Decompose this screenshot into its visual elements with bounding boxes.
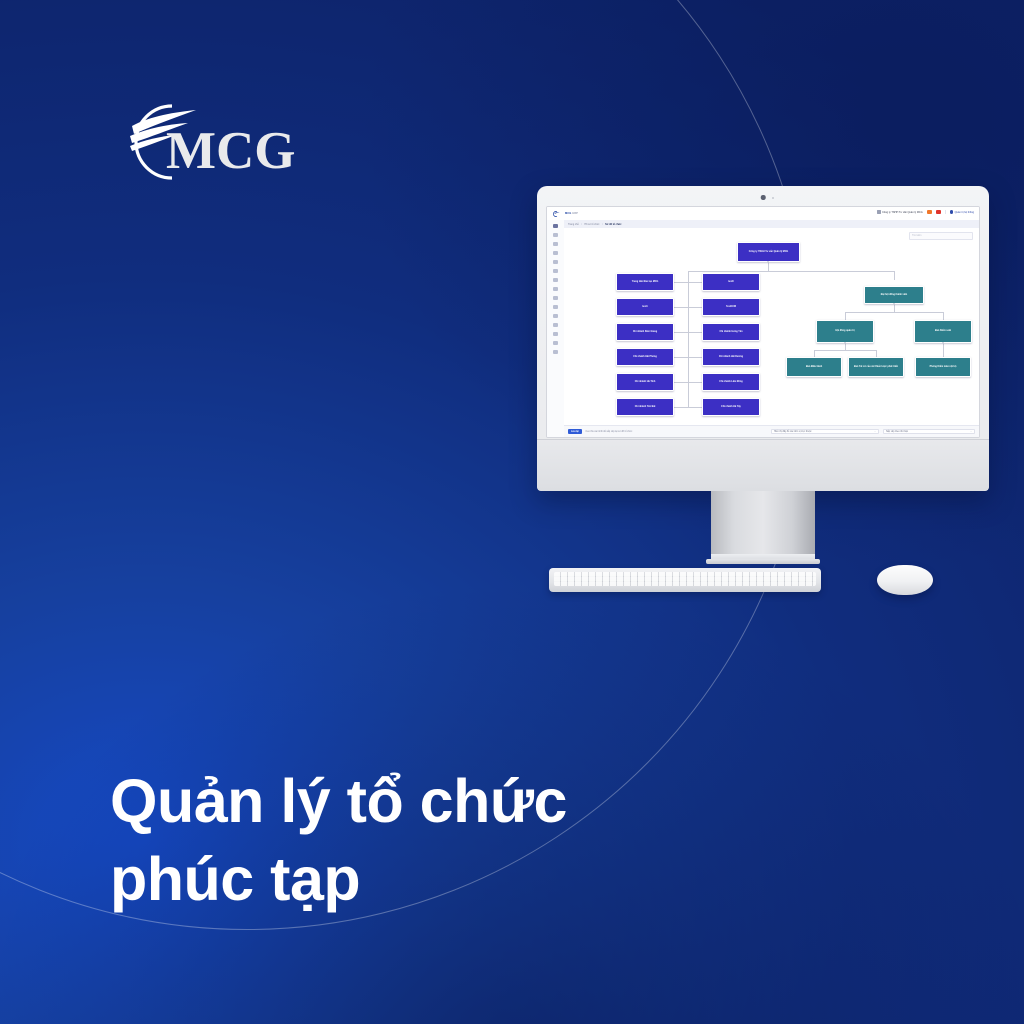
sidebar-item-gear-icon[interactable] [553, 350, 557, 354]
mcg-logo: MCG [110, 96, 300, 188]
org-node-left-4[interactable]: Chi nhánh Hà Tĩnh [616, 373, 674, 391]
footer-note: Kéo thả các khối để sắp xếp lại sơ đồ tổ… [586, 431, 633, 433]
connector-gov-top-down [894, 304, 895, 312]
connector-bks-down [943, 343, 944, 357]
notification-icon[interactable] [927, 210, 932, 214]
breadcrumb-item-1[interactable]: Hồ sơ tổ chức [584, 223, 599, 226]
connector-r5 [688, 407, 702, 408]
monitor-screen: MCG ERP Công ty TNHH Tư vấn Quản lý MCG [546, 206, 980, 438]
org-chart-canvas[interactable]: Tìm kiếm [564, 228, 979, 426]
save-button[interactable]: Lưu lại [568, 429, 582, 434]
app-logo[interactable]: MCG ERP [553, 211, 578, 217]
org-node-gov-top[interactable]: Đại hội đồng thành viên [864, 286, 924, 304]
app-sidebar [547, 220, 565, 437]
connector-l3 [674, 357, 688, 358]
page-title: Quản lý tổ chức phúc tạp [110, 762, 730, 918]
app-logo-text: MCG [565, 212, 571, 215]
org-selector[interactable]: Công ty TNHH Tư vấn Quản lý MCG [877, 210, 922, 213]
connector-r3 [688, 357, 702, 358]
org-node-right-3[interactable]: Chi nhánh Hải Dương [702, 348, 760, 366]
monitor-stand-foot [711, 554, 815, 563]
org-node-right-0[interactable]: test0 [702, 273, 760, 291]
app-logo-icon [553, 211, 564, 217]
org-node-gov-leaf-1[interactable]: Ban Điều hành [786, 357, 842, 377]
connector-gov-down [894, 271, 895, 280]
org-node-gov-leaf-2[interactable]: Ban Tái cơ cấu và Chiến lược phát triển [848, 357, 904, 377]
org-node-right-5[interactable]: Chi nhánh Hà Tây [702, 398, 760, 416]
connector-gov-horizontal [845, 312, 943, 313]
mouse [877, 565, 933, 595]
connector-r0 [688, 282, 702, 283]
chevron-down-icon: ⌄ [874, 430, 876, 433]
sidebar-item-briefcase-icon[interactable] [553, 287, 557, 291]
sidebar-item-tag-icon[interactable] [553, 341, 557, 345]
display-mode-select[interactable]: Hiển thị đầy đủ các đơn vị trực thuộc ⌄ [771, 429, 879, 435]
keyboard [549, 568, 821, 592]
org-node-left-2[interactable]: Chi nhánh Kiên Giang [616, 323, 674, 341]
connector-l2 [674, 332, 688, 333]
alert-icon[interactable] [936, 210, 941, 214]
keyboard-keys [554, 572, 816, 586]
svg-text:MCG: MCG [166, 122, 296, 180]
monitor-bezel [537, 186, 989, 206]
monitor-stand-neck [711, 491, 815, 557]
mcg-swoosh-logo: MCG [110, 96, 300, 188]
breadcrumb-separator-0: / [581, 223, 582, 226]
camera-indicator-icon [772, 197, 774, 199]
display-mode-value: Hiển thị đầy đủ các đơn vị trực thuộc [774, 431, 812, 433]
org-node-gov-mid-left[interactable]: Hội đồng quản trị [816, 320, 874, 343]
imac-mockup: MCG ERP Công ty TNHH Tư vấn Quản lý MCG [537, 186, 989, 606]
user-avatar [950, 210, 954, 214]
monitor-body: MCG ERP Công ty TNHH Tư vấn Quản lý MCG [537, 186, 989, 491]
chin-divider [537, 439, 989, 440]
org-selector-label: Công ty TNHH Tư vấn Quản lý MCG [882, 211, 923, 214]
breadcrumb-separator-1: / [602, 223, 603, 226]
connector-left-spine [688, 271, 689, 407]
connector-l4 [674, 382, 688, 383]
connector-l0 [674, 282, 688, 283]
org-node-right-1[interactable]: TestCCM [702, 298, 760, 316]
chevron-down-icon: ⌄ [970, 430, 972, 433]
sidebar-item-calendar-icon[interactable] [553, 269, 557, 273]
breadcrumb-item-2: Sơ đồ tổ chức [605, 223, 621, 226]
connector-l1 [674, 307, 688, 308]
app-footer-toolbar: Lưu lại Kéo thả các khối để sắp xếp lại … [564, 425, 979, 437]
monitor-chin [537, 439, 989, 491]
topbar-right-group: Công ty TNHH Tư vấn Quản lý MCG Quản trị… [877, 210, 974, 214]
org-node-right-4[interactable]: Chi nhánh Lâm Đồng [702, 373, 760, 391]
connector-r2 [688, 332, 702, 333]
poster-canvas: MCG [0, 0, 1024, 1024]
connector-hdqt-horizontal [814, 350, 876, 351]
sidebar-item-settings-icon[interactable] [553, 278, 557, 282]
headline-line-1: Quản lý tổ chức [110, 767, 567, 835]
connector-r1 [688, 307, 702, 308]
connector-leaf2-down [876, 350, 877, 357]
user-menu[interactable]: Quản trị hệ thống [945, 210, 974, 214]
webcam-icon [761, 195, 766, 200]
headline-line-2: phúc tạp [110, 840, 730, 918]
sidebar-item-clock-icon[interactable] [553, 314, 557, 318]
sidebar-item-user-icon[interactable] [553, 242, 557, 246]
app-topbar: MCG ERP Công ty TNHH Tư vấn Quản lý MCG [547, 207, 979, 221]
connector-root-down [768, 262, 769, 271]
org-node-gov-mid-right[interactable]: Ban Kiểm soát [914, 320, 972, 343]
sort-mode-select[interactable]: Sắp xếp theo thứ bậc ⌄ [883, 429, 975, 435]
org-node-left-1[interactable]: test1 [616, 298, 674, 316]
connector-gov-right-down [943, 312, 944, 320]
building-icon [877, 210, 880, 213]
sidebar-item-link-icon[interactable] [553, 260, 557, 264]
sidebar-item-box-icon[interactable] [553, 323, 557, 327]
sidebar-item-document-icon[interactable] [553, 233, 557, 237]
sidebar-item-list-icon[interactable] [553, 332, 557, 336]
sidebar-item-home-icon[interactable] [553, 224, 557, 228]
sidebar-item-chart-icon[interactable] [553, 251, 557, 255]
connector-hdqt-down [845, 343, 846, 350]
connector-r4 [688, 382, 702, 383]
connector-l5 [674, 407, 688, 408]
sort-mode-value: Sắp xếp theo thứ bậc [886, 431, 908, 433]
org-node-right-2[interactable]: Chi nhánh Hưng Yên [702, 323, 760, 341]
breadcrumb-item-0[interactable]: Trang chủ [568, 223, 579, 226]
sidebar-item-grid-icon[interactable] [553, 305, 557, 309]
app-logo-suffix: ERP [572, 212, 578, 215]
connector-gov-left-down [845, 312, 846, 320]
org-node-root[interactable]: Công ty TNHH Tư vấn Quản lý MCG [737, 242, 800, 262]
org-node-left-3[interactable]: Chi nhánh Hải Phòng [616, 348, 674, 366]
sidebar-item-folder-icon[interactable] [553, 296, 557, 300]
org-node-gov-leaf-3[interactable]: Phòng Kiểm toán nội bộ [915, 357, 971, 377]
org-chart: Công ty TNHH Tư vấn Quản lý MCG Trung tâ… [564, 228, 979, 426]
org-node-left-0[interactable]: Trung tâm Đào tạo MCG [616, 273, 674, 291]
connector-root-horizontal [688, 271, 894, 272]
user-menu-label: Quản trị hệ thống [955, 211, 974, 214]
connector-leaf1-down [814, 350, 815, 357]
org-node-left-5[interactable]: Chi nhánh Yên Bái [616, 398, 674, 416]
org-chart-application: MCG ERP Công ty TNHH Tư vấn Quản lý MCG [547, 207, 979, 437]
